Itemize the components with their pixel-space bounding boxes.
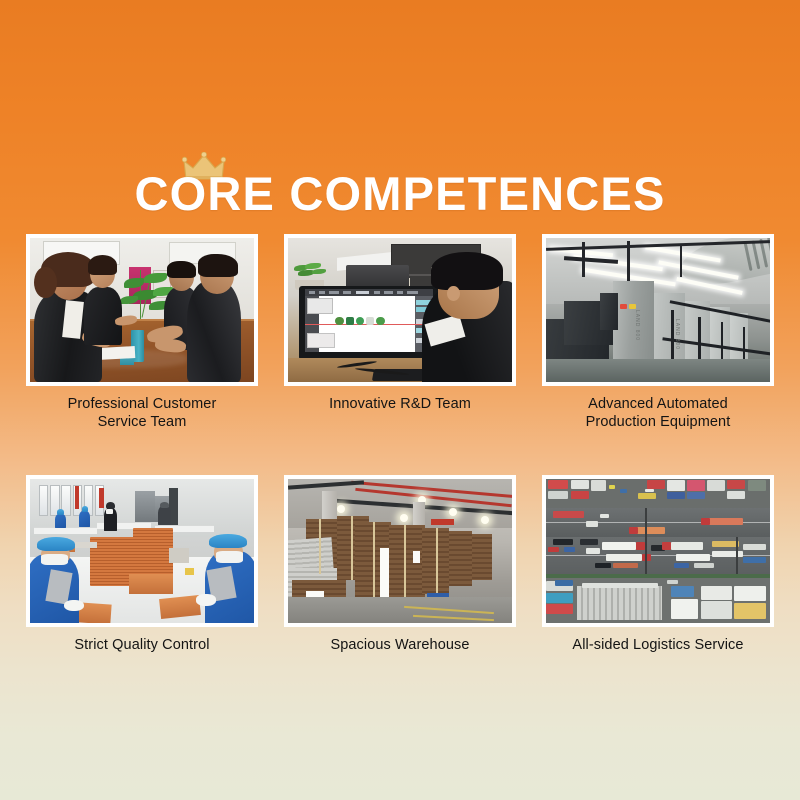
advanced-automated-production-equipment-photo: LAND 800 LAND 800 <box>546 238 770 382</box>
innovative-rd-team-photo <box>288 238 512 382</box>
caption-line: Service Team <box>26 413 258 431</box>
photo-frame <box>26 234 258 386</box>
photo-frame <box>542 475 774 627</box>
competence-caption: Professional Customer Service Team <box>26 395 258 431</box>
caption-line: Advanced Automated <box>542 395 774 413</box>
competence-caption: Innovative R&D Team <box>284 395 516 413</box>
competence-caption: Spacious Warehouse <box>284 636 516 654</box>
caption-line: All-sided Logistics Service <box>542 636 774 654</box>
competence-card-logistics[interactable]: All-sided Logistics Service <box>542 475 774 654</box>
caption-line: Spacious Warehouse <box>284 636 516 654</box>
competence-card-rd-team[interactable]: Innovative R&D Team <box>284 234 516 431</box>
page-title: CORE COMPETENCES <box>134 166 665 222</box>
page-header: CORE COMPETENCES <box>0 152 800 222</box>
competence-caption: All-sided Logistics Service <box>542 636 774 654</box>
competences-row-1: Professional Customer Service Team <box>26 234 774 431</box>
strict-quality-control-photo <box>30 479 254 623</box>
caption-line: Production Equipment <box>542 413 774 431</box>
caption-line: Professional Customer <box>26 395 258 413</box>
photo-frame <box>284 234 516 386</box>
competences-row-2: Strict Quality Control <box>26 475 774 654</box>
spacious-warehouse-photo <box>288 479 512 623</box>
competence-caption: Advanced Automated Production Equipment <box>542 395 774 431</box>
caption-line: Innovative R&D Team <box>284 395 516 413</box>
competences-grid: Professional Customer Service Team <box>26 234 774 654</box>
competence-card-quality-control[interactable]: Strict Quality Control <box>26 475 258 654</box>
competence-card-warehouse[interactable]: Spacious Warehouse <box>284 475 516 654</box>
photo-frame <box>284 475 516 627</box>
caption-line: Strict Quality Control <box>26 636 258 654</box>
competence-card-customer-service[interactable]: Professional Customer Service Team <box>26 234 258 431</box>
competence-card-production-equipment[interactable]: LAND 800 LAND 800 Advanced Automated Pro… <box>542 234 774 431</box>
competence-caption: Strict Quality Control <box>26 636 258 654</box>
professional-customer-service-team-photo <box>30 238 254 382</box>
photo-frame <box>26 475 258 627</box>
photo-frame: LAND 800 LAND 800 <box>542 234 774 386</box>
all-sided-logistics-service-photo <box>546 479 770 623</box>
